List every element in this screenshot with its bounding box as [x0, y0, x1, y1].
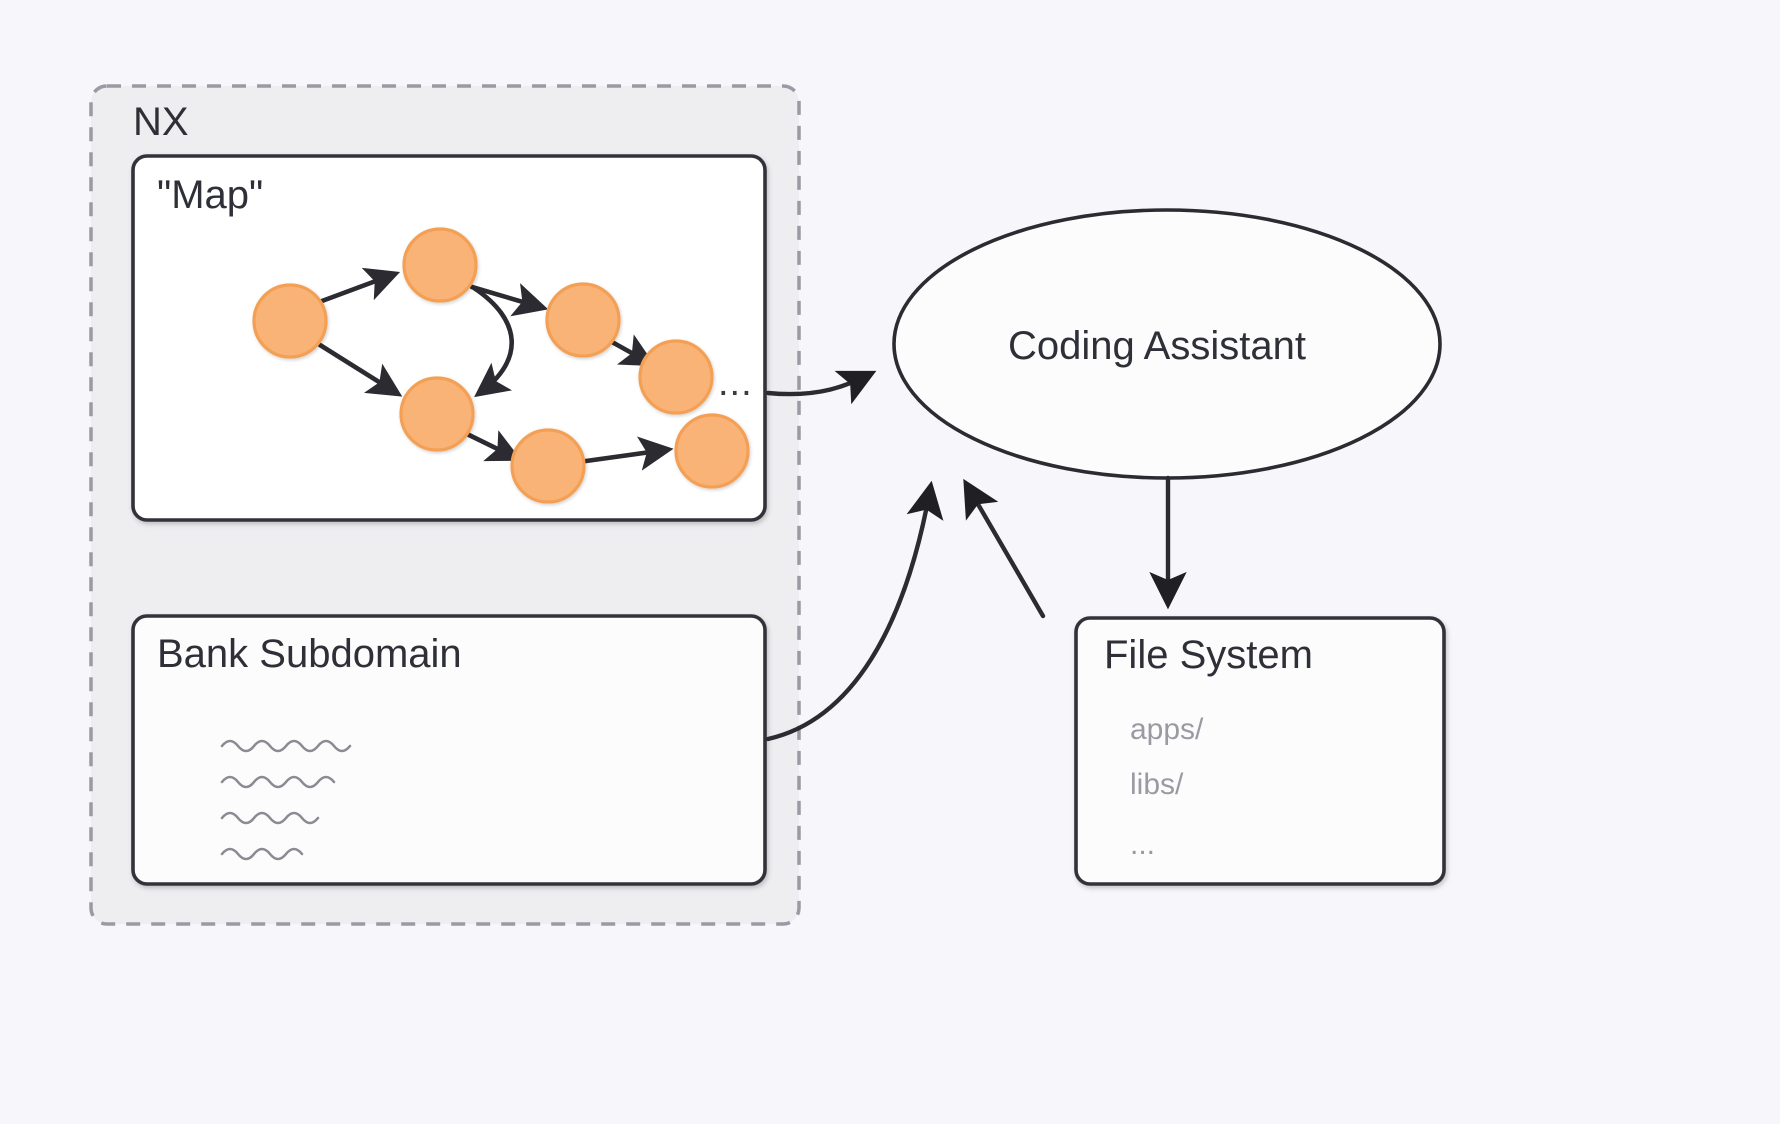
graph-node — [676, 415, 748, 487]
file-system-item-more: ... — [1130, 828, 1155, 862]
bank-subdomain-box — [133, 616, 765, 884]
graph-node — [547, 284, 619, 356]
graph-node — [640, 341, 712, 413]
file-system-item-apps: apps/ — [1130, 713, 1203, 747]
map-box — [133, 156, 765, 520]
graph-node — [401, 378, 473, 450]
graph-node — [404, 229, 476, 301]
map-graph-ellipsis: ... — [718, 362, 753, 405]
coding-assistant-ellipse — [894, 210, 1440, 478]
connector-filesystem-to-coding-assistant — [968, 487, 1043, 616]
diagram-vector-layer — [0, 0, 1780, 1124]
diagram-canvas: NX "Map" ... Bank Subdomain Coding Assis… — [0, 0, 1780, 1124]
graph-node — [512, 430, 584, 502]
graph-node — [254, 285, 326, 357]
file-system-item-libs: libs/ — [1130, 768, 1183, 802]
